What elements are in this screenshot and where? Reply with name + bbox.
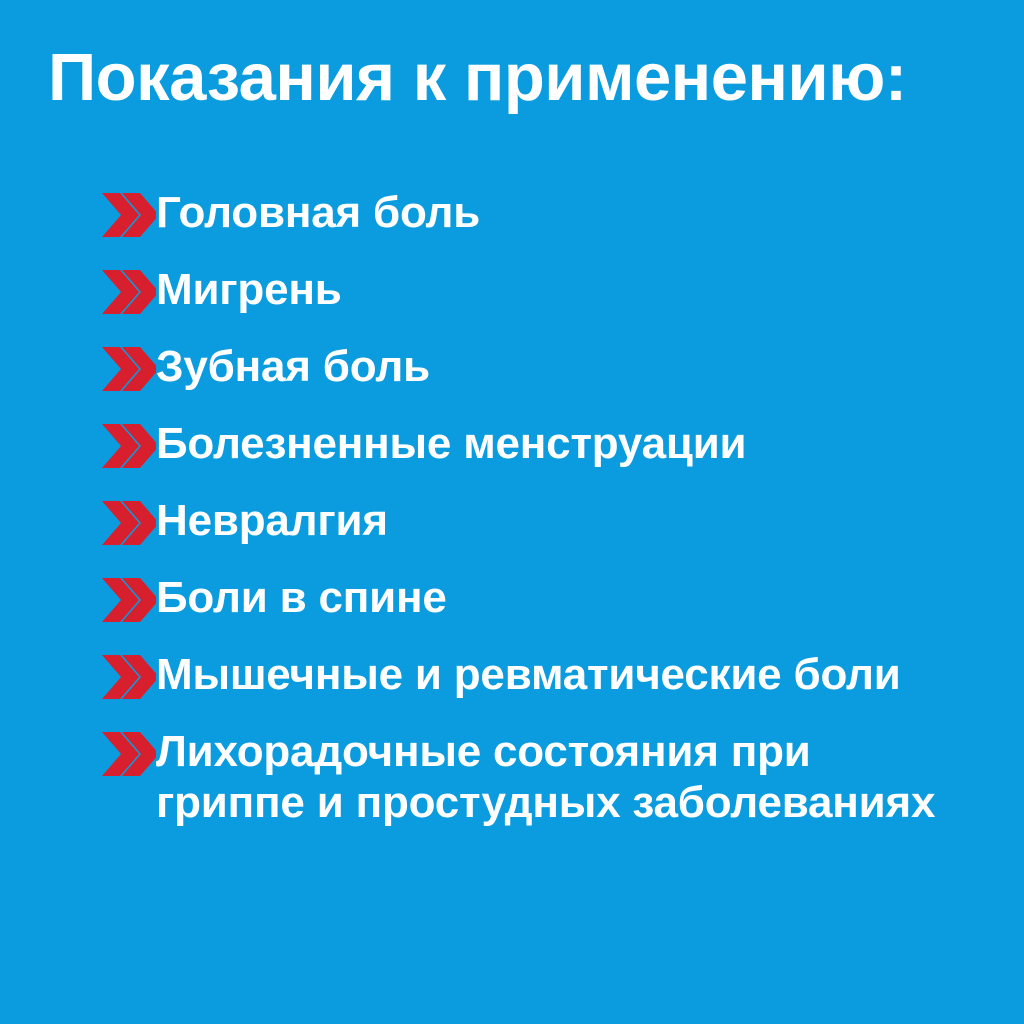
list-item: Головная боль xyxy=(100,186,970,241)
list-item: Боли в спине xyxy=(100,571,970,626)
double-chevron-right-icon xyxy=(100,574,156,626)
list-item: Зубная боль xyxy=(100,340,970,395)
double-chevron-right-icon xyxy=(100,189,156,241)
double-chevron-right-icon xyxy=(100,266,156,318)
indications-slide: Показания к применению: Головная боль Ми… xyxy=(0,0,1024,1024)
list-item: Невралгия xyxy=(100,494,970,549)
list-item: Мигрень xyxy=(100,263,970,318)
double-chevron-right-icon xyxy=(100,651,156,703)
list-item-label: Головная боль xyxy=(156,186,970,238)
list-item-label: Болезненные менструации xyxy=(156,417,970,469)
list-item-label: Мигрень xyxy=(156,263,970,315)
list-item: Болезненные менструации xyxy=(100,417,970,472)
double-chevron-right-icon xyxy=(100,420,156,472)
indications-list: Головная боль Мигрень Зубная боль xyxy=(100,186,970,850)
double-chevron-right-icon xyxy=(100,343,156,395)
list-item-label: Мышечные и ревматические боли xyxy=(156,648,970,700)
page-title: Показания к применению: xyxy=(48,44,988,112)
list-item-label: Боли в спине xyxy=(156,571,970,623)
list-item: Лихорадочные состояния при гриппе и прос… xyxy=(100,725,970,828)
list-item-label: Зубная боль xyxy=(156,340,970,392)
double-chevron-right-icon xyxy=(100,497,156,549)
list-item-label: Невралгия xyxy=(156,494,970,546)
double-chevron-right-icon xyxy=(100,728,156,780)
list-item: Мышечные и ревматические боли xyxy=(100,648,970,703)
list-item-label: Лихорадочные состояния при гриппе и прос… xyxy=(156,725,970,828)
